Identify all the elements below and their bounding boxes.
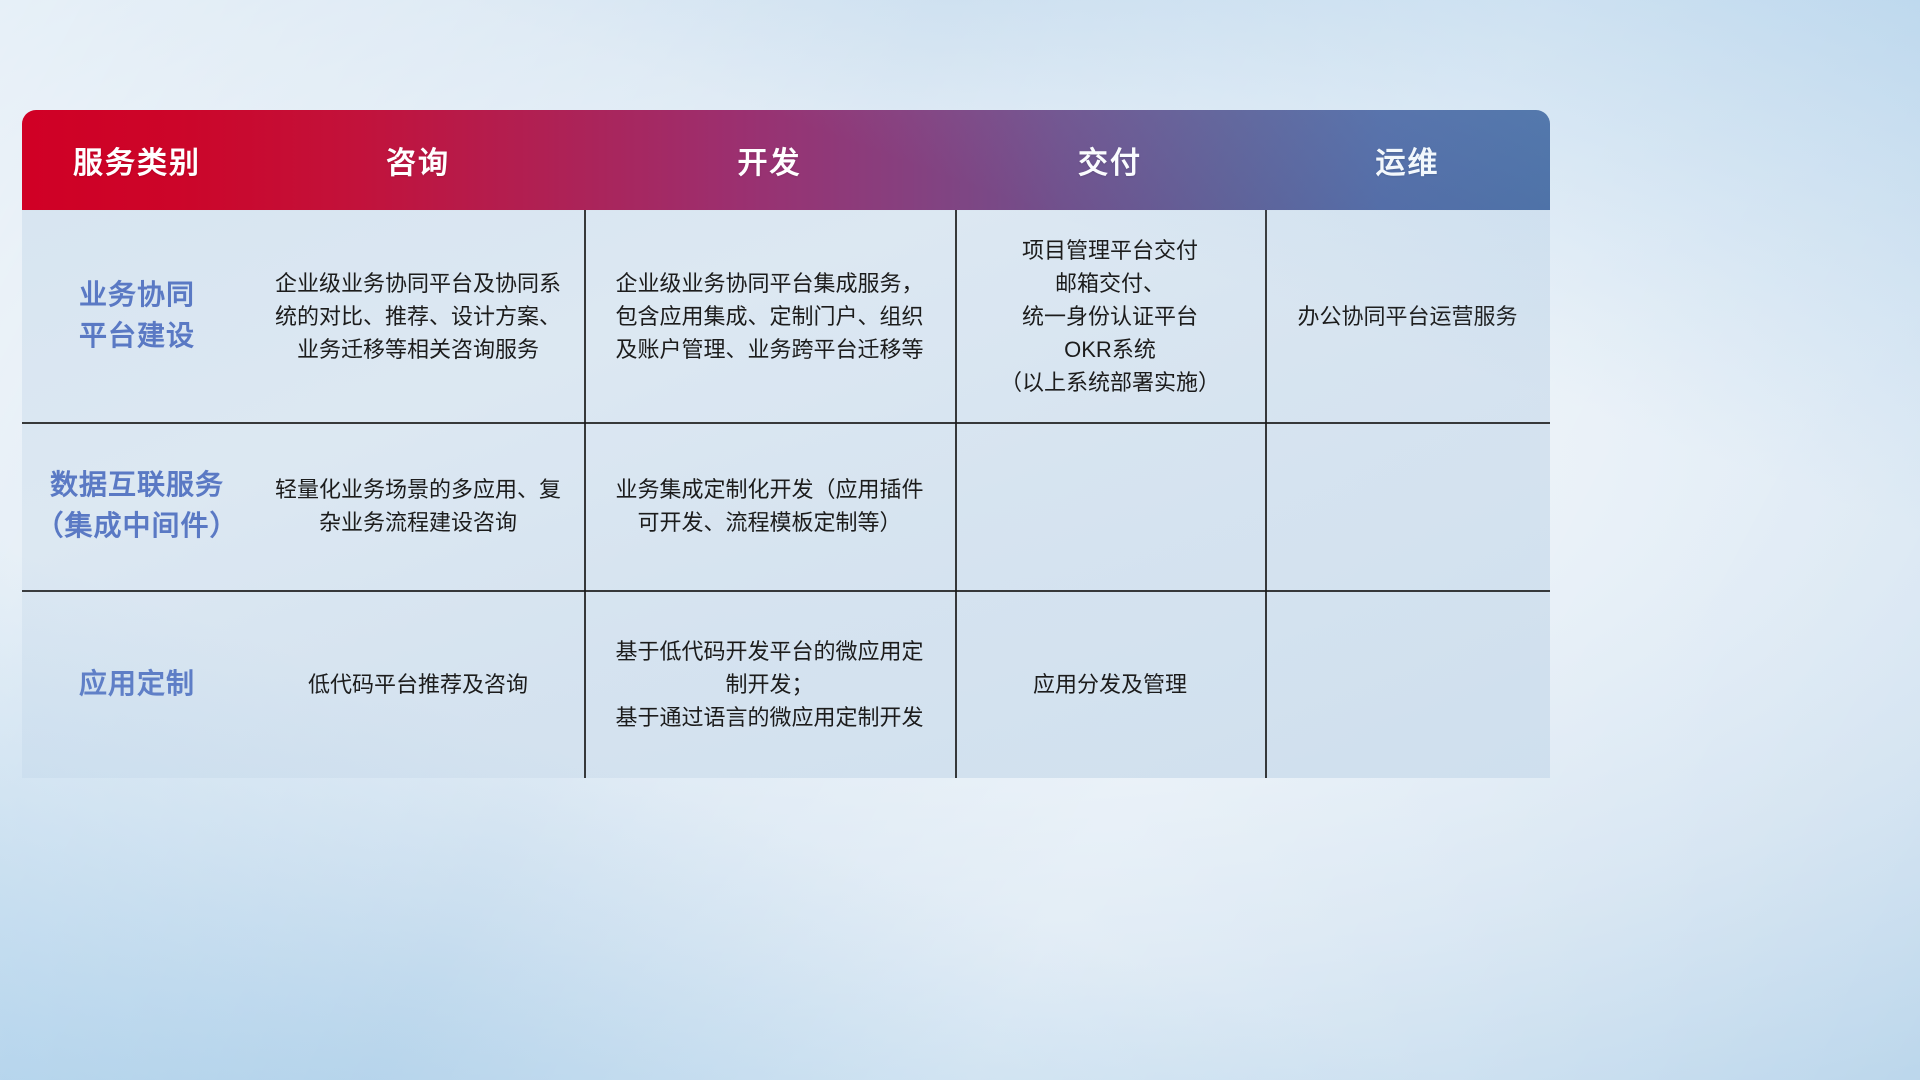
cell-consulting: 低代码平台推荐及咨询 (252, 590, 584, 778)
cell-consulting: 企业级业务协同平台及协同系 统的对比、推荐、设计方案、 业务迁移等相关咨询服务 (252, 210, 584, 422)
cell-text: 业务集成定制化开发（应用插件 可开发、流程模板定制等） (615, 473, 923, 539)
row-label-text: 应用定制 (79, 664, 195, 705)
table-row: 数据互联服务 （集成中间件） 轻量化业务场景的多应用、复 杂业务流程建设咨询 业… (22, 422, 1550, 590)
cell-text: 企业级业务协同平台及协同系 统的对比、推荐、设计方案、 业务迁移等相关咨询服务 (275, 267, 561, 366)
cell-consulting: 轻量化业务场景的多应用、复 杂业务流程建设咨询 (252, 422, 584, 590)
table-row: 应用定制 低代码平台推荐及咨询 基于低代码开发平台的微应用定 制开发； 基于通过… (22, 590, 1550, 778)
row-label-cell: 应用定制 (22, 590, 252, 778)
cell-development: 基于低代码开发平台的微应用定 制开发； 基于通过语言的微应用定制开发 (584, 590, 955, 778)
cell-operations: 办公协同平台运营服务 (1265, 210, 1550, 422)
row-label-cell: 业务协同 平台建设 (22, 210, 252, 422)
cell-text: 项目管理平台交付 邮箱交付、 统一身份认证平台 OKR系统 （以上系统部署实施） (1000, 234, 1220, 399)
column-header-operations: 运维 (1265, 110, 1550, 210)
column-header-category: 服务类别 (22, 110, 252, 210)
column-header-development: 开发 (584, 110, 955, 210)
cell-text: 低代码平台推荐及咨询 (308, 668, 528, 701)
cell-operations (1265, 422, 1550, 590)
cell-text: 基于低代码开发平台的微应用定 制开发； 基于通过语言的微应用定制开发 (615, 635, 923, 734)
column-header-delivery: 交付 (955, 110, 1265, 210)
cell-delivery: 应用分发及管理 (955, 590, 1265, 778)
cell-operations (1265, 590, 1550, 778)
cell-delivery (955, 422, 1265, 590)
service-matrix-table: 服务类别 咨询 开发 交付 运维 业务协同 平台建设 企业级业务协同平台及协同系… (22, 110, 1550, 778)
row-label-text: 业务协同 平台建设 (79, 275, 195, 356)
table-header-row: 服务类别 咨询 开发 交付 运维 (22, 110, 1550, 210)
cell-delivery: 项目管理平台交付 邮箱交付、 统一身份认证平台 OKR系统 （以上系统部署实施） (955, 210, 1265, 422)
cell-development: 企业级业务协同平台集成服务， 包含应用集成、定制门户、组织 及账户管理、业务跨平… (584, 210, 955, 422)
cell-text: 应用分发及管理 (1033, 668, 1187, 701)
table-row: 业务协同 平台建设 企业级业务协同平台及协同系 统的对比、推荐、设计方案、 业务… (22, 210, 1550, 422)
row-label-text: 数据互联服务 （集成中间件） (35, 465, 238, 546)
cell-development: 业务集成定制化开发（应用插件 可开发、流程模板定制等） (584, 422, 955, 590)
row-label-cell: 数据互联服务 （集成中间件） (22, 422, 252, 590)
table-body: 业务协同 平台建设 企业级业务协同平台及协同系 统的对比、推荐、设计方案、 业务… (22, 210, 1550, 778)
cell-text: 轻量化业务场景的多应用、复 杂业务流程建设咨询 (275, 473, 561, 539)
column-header-consulting: 咨询 (252, 110, 584, 210)
slide-canvas: 服务类别 咨询 开发 交付 运维 业务协同 平台建设 企业级业务协同平台及协同系… (0, 0, 1920, 1080)
cell-text: 企业级业务协同平台集成服务， 包含应用集成、定制门户、组织 及账户管理、业务跨平… (615, 267, 923, 366)
cell-text: 办公协同平台运营服务 (1297, 300, 1517, 333)
